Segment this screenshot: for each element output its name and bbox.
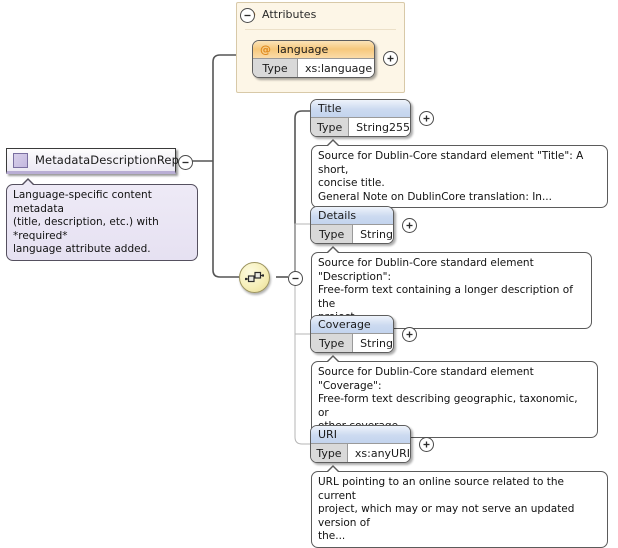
element-type-row: Type String	[311, 334, 393, 352]
element-name: URI	[311, 426, 410, 444]
type-label: Type	[311, 225, 353, 243]
element-box-uri[interactable]: URI Type xs:anyURI	[310, 425, 411, 463]
element-annotation-text: Source for Dublin-Core standard element …	[318, 150, 601, 204]
element-icon	[13, 153, 28, 168]
attributes-panel-divider	[245, 29, 396, 30]
element-box-title[interactable]: Title Type String255	[310, 99, 411, 137]
attribute-name: language	[277, 43, 328, 56]
type-value: String	[353, 225, 393, 243]
callout-notch-inner	[22, 180, 34, 186]
callout-notch-inner	[327, 357, 339, 363]
element-type-row: Type String255	[311, 118, 410, 136]
attribute-header: @ language	[253, 41, 374, 59]
element-annotation-title: Source for Dublin-Core standard element …	[311, 145, 608, 208]
schema-diagram-canvas: MetadataDescriptionRepr Language-specifi…	[0, 0, 618, 521]
attribute-type-row: Type xs:language	[253, 59, 374, 77]
type-value: String255	[349, 118, 410, 136]
type-label: Type	[311, 444, 348, 462]
element-name: Details	[311, 207, 393, 225]
root-annotation-text: Language-specific content metadata (titl…	[13, 189, 191, 257]
attributes-panel-label: Attributes	[262, 8, 316, 21]
sequence-collapse-toggle[interactable]	[288, 271, 303, 286]
sequence-icon	[245, 270, 264, 285]
element-box-details[interactable]: Details Type String	[310, 206, 394, 244]
element-annotation-text: Source for Dublin-Core standard element …	[318, 366, 591, 434]
element-annotation-text: URL pointing to an online source related…	[318, 476, 601, 544]
element-expand-toggle-title[interactable]	[419, 111, 434, 126]
element-expand-toggle-coverage[interactable]	[402, 327, 417, 342]
root-annotation: Language-specific content metadata (titl…	[6, 184, 198, 261]
element-type-row: Type String	[311, 225, 393, 243]
sequence-compositor[interactable]	[239, 262, 270, 293]
element-name: Title	[311, 100, 410, 118]
callout-notch-inner	[327, 467, 339, 473]
attributes-panel-header: @ Attributes	[245, 8, 316, 21]
element-annotation-uri: URL pointing to an online source related…	[311, 471, 608, 548]
type-label: Type	[311, 334, 353, 352]
element-type-row: Type xs:anyURI	[311, 444, 410, 462]
type-value: xs:language	[298, 59, 374, 77]
callout-notch-inner	[327, 141, 339, 147]
element-name: Coverage	[311, 316, 393, 334]
type-value: String	[353, 334, 393, 352]
root-element-box[interactable]: MetadataDescriptionRepr	[6, 148, 176, 174]
type-label: Type	[311, 118, 349, 136]
root-collapse-toggle[interactable]	[178, 155, 193, 170]
element-box-coverage[interactable]: Coverage Type String	[310, 315, 394, 353]
attributes-collapse-toggle[interactable]	[240, 8, 255, 23]
type-label: Type	[253, 59, 298, 77]
attribute-expand-toggle-language[interactable]	[383, 51, 398, 66]
callout-notch-inner	[327, 248, 339, 254]
attribute-box-language[interactable]: @ language Type xs:language	[252, 40, 375, 78]
at-sign-icon: @	[260, 44, 271, 55]
root-element-label: MetadataDescriptionRepr	[35, 153, 184, 167]
type-value: xs:anyURI	[348, 444, 410, 462]
element-expand-toggle-details[interactable]	[402, 218, 417, 233]
element-expand-toggle-uri[interactable]	[419, 437, 434, 452]
